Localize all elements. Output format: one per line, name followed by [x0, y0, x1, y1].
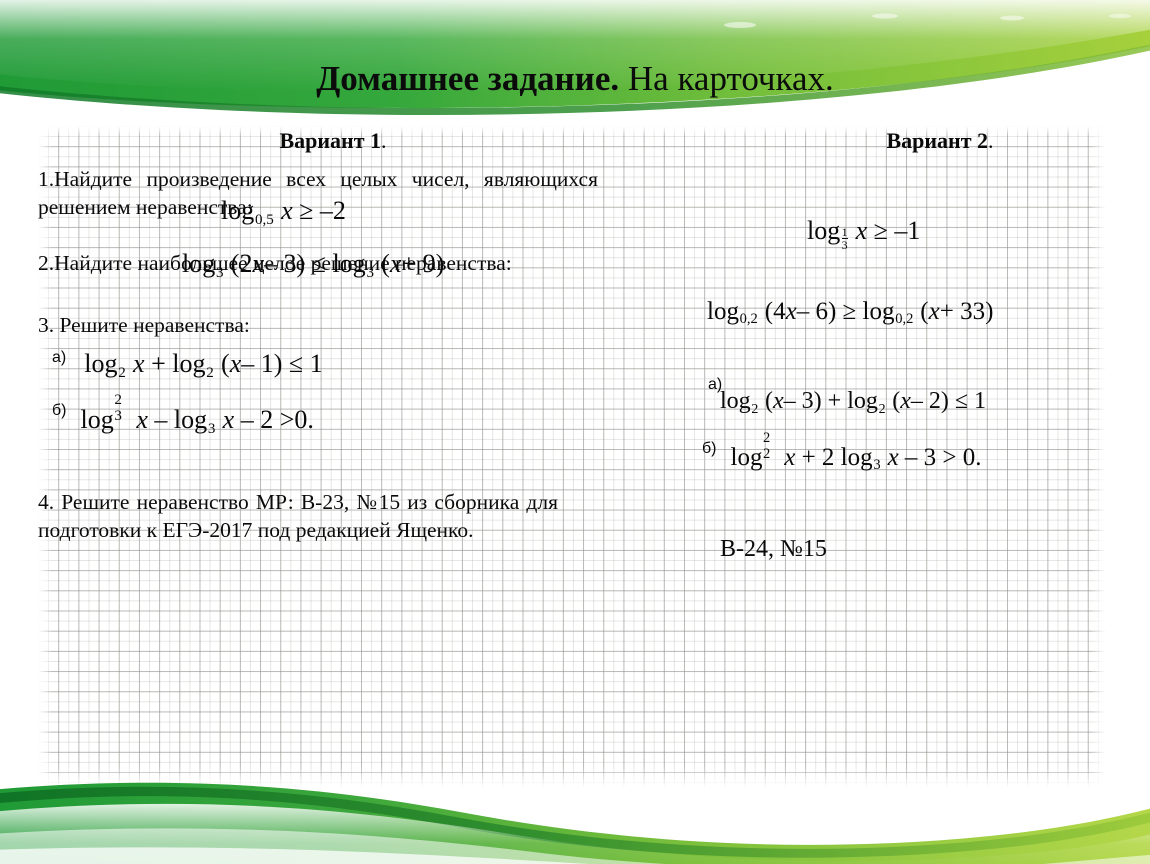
log-keyword: log — [84, 349, 117, 378]
log-base: 2 — [117, 365, 126, 381]
relation-operator: ≥ — [874, 216, 888, 245]
subitem-label-b: б) — [52, 402, 67, 420]
variant-2-task-4-text: В-24, №15 — [720, 534, 1120, 566]
variant-2-heading: Вариант 2. — [760, 128, 1120, 154]
variable-x: x — [252, 249, 264, 278]
fraction-numerator: 1 — [842, 226, 848, 238]
variable-x: x — [136, 405, 148, 434]
log-keyword: log — [332, 249, 365, 278]
variant-1-task-4-text: 4. Решите неравенство МР: В-23, №15 из с… — [38, 488, 558, 545]
log-base: 0,2 — [739, 311, 759, 327]
variable-x: x — [223, 405, 235, 434]
log-base: 2 — [205, 365, 214, 381]
log-base: 2 — [878, 402, 886, 417]
log-base: 2 — [751, 402, 759, 417]
variant-1-task-3a-formula: log2 x + log2 (x– 1) ≤ 1 — [84, 349, 322, 382]
variant-1-task-1-formula: log0,5 x ≥ –2 — [221, 196, 598, 229]
log-base: 3 — [366, 265, 375, 281]
relation-operator: ≥ — [299, 196, 313, 225]
subitem-label-b: б) — [702, 440, 717, 458]
slide-canvas: Домашнее задание. На карточках. Вариант … — [0, 0, 1150, 864]
constant-term: – 2 — [241, 405, 274, 434]
argument-open: (2 — [231, 249, 253, 278]
log-squared-indices: 23 — [114, 402, 130, 428]
log-keyword: log — [841, 444, 873, 471]
page-title-bold: Домашнее задание. — [316, 59, 619, 98]
log-keyword: log — [174, 405, 207, 434]
plus-operator: + — [151, 349, 166, 378]
log-keyword: log — [182, 249, 215, 278]
right-hand-side: –2 — [320, 196, 346, 225]
relation-operator: >0. — [280, 405, 314, 434]
subitem-label-a: а) — [52, 349, 66, 367]
variable-x: x — [281, 196, 293, 225]
variant-1-task-3b-formula: log23 x – log3 x – 2 >0. — [81, 402, 314, 438]
variant-2-task-3a-formula: log2 (x– 3) + log2 (x– 2) ≤ 1 — [720, 388, 986, 417]
relation-operator: > 0. — [942, 444, 981, 471]
relation-operator: ≥ — [843, 298, 857, 325]
variant-1-task-2-formula: log3 (2x– 3) ≤ log3 (x+ 9) — [182, 249, 598, 282]
variant-2-task-3b-formula: log22 x + 2 log3 x – 3 > 0. — [731, 440, 982, 475]
log-keyword: log — [720, 388, 751, 414]
variant-1-task-3a-row: а) log2 x + log2 (x– 1) ≤ 1 — [52, 349, 598, 382]
argument-rest: – 3) — [784, 388, 822, 414]
log-keyword: log — [81, 405, 114, 434]
variant-2-heading-label: Вариант 2 — [886, 128, 988, 153]
variant-1-column: Вариант 1. 1.Найдите произведение всех ц… — [38, 128, 598, 545]
variable-x: x — [230, 349, 242, 378]
minus-operator: – — [154, 405, 167, 434]
argument-rest: – 3) — [264, 249, 305, 278]
right-hand-side: –1 — [894, 216, 920, 245]
log-squared-indices: 22 — [762, 440, 778, 465]
argument-open: ( — [381, 249, 390, 278]
argument-open: ( — [920, 298, 928, 325]
log-base: 0,2 — [894, 311, 914, 327]
variant-2-heading-dot: . — [988, 128, 994, 153]
log-base: 3 — [207, 421, 216, 437]
relation-operator: ≤ — [289, 349, 303, 378]
plus-operator: + — [828, 388, 842, 414]
plus-operator: + 2 — [802, 444, 835, 471]
variant-2-task-3b-row: б) log22 x + 2 log3 x – 3 > 0. — [702, 440, 1120, 475]
log-power: 2 — [114, 392, 122, 409]
relation-operator: ≤ — [955, 388, 968, 414]
argument-rest: – 6) — [797, 298, 837, 325]
constant-term: – 3 — [905, 444, 936, 471]
log-keyword: log — [863, 298, 895, 325]
argument-rest: + 33) — [940, 298, 994, 325]
log-base: 2 — [763, 446, 770, 463]
variant-1-heading: Вариант 1. — [68, 128, 598, 154]
variable-x: x — [900, 388, 911, 414]
variable-x: x — [784, 444, 795, 471]
variable-x: x — [929, 298, 940, 325]
log-base: 3 — [114, 408, 122, 425]
variant-1-heading-label: Вариант 1 — [279, 128, 381, 153]
log-keyword: log — [707, 298, 739, 325]
right-hand-side: 1 — [310, 349, 323, 378]
variable-x: x — [856, 216, 868, 245]
log-keyword: log — [172, 349, 205, 378]
argument-rest: – 2) — [911, 388, 949, 414]
argument-rest: – 1) — [241, 349, 282, 378]
argument-open: ( — [765, 388, 773, 414]
variable-x: x — [786, 298, 797, 325]
relation-operator: ≤ — [312, 249, 326, 278]
variant-2-task-3a-row: а) log2 (x– 3) + log2 (x– 2) ≤ 1 — [708, 376, 1120, 417]
variable-x: x — [888, 444, 899, 471]
fraction-denominator: 3 — [842, 238, 848, 251]
log-base: 0,5 — [254, 212, 274, 228]
log-keyword: log — [807, 216, 840, 245]
variant-1-task-3b-row: б) log23 x – log3 x – 2 >0. — [52, 402, 598, 438]
page-title-rest: На карточках. — [619, 59, 834, 98]
variable-x: x — [133, 349, 145, 378]
right-hand-side: 1 — [974, 388, 986, 414]
variant-2-task-1-formula: log13 x ≥ –1 — [807, 216, 1120, 252]
page-title: Домашнее задание. На карточках. — [0, 59, 1150, 99]
log-base: 3 — [873, 457, 882, 473]
log-base: 3 — [215, 265, 224, 281]
log-keyword: log — [847, 388, 878, 414]
argument-open: ( — [892, 388, 900, 414]
log-base-fraction: 13 — [840, 226, 849, 252]
variable-x: x — [390, 249, 402, 278]
argument-rest: + 9) — [401, 249, 444, 278]
variable-x: x — [773, 388, 784, 414]
variant-1-heading-dot: . — [381, 128, 387, 153]
log-keyword: log — [221, 196, 254, 225]
log-keyword: log — [731, 444, 763, 471]
variant-2-column: Вариант 2. log13 x ≥ –1 log0,2 (4x– 6) ≥… — [690, 128, 1120, 566]
variant-2-task-2-formula: log0,2 (4x– 6) ≥ log0,2 (x+ 33) — [707, 298, 1120, 329]
argument-open: ( — [221, 349, 230, 378]
argument-open: (4 — [765, 298, 786, 325]
variant-1-task-3-text: 3. Решите неравенства: — [38, 311, 598, 339]
